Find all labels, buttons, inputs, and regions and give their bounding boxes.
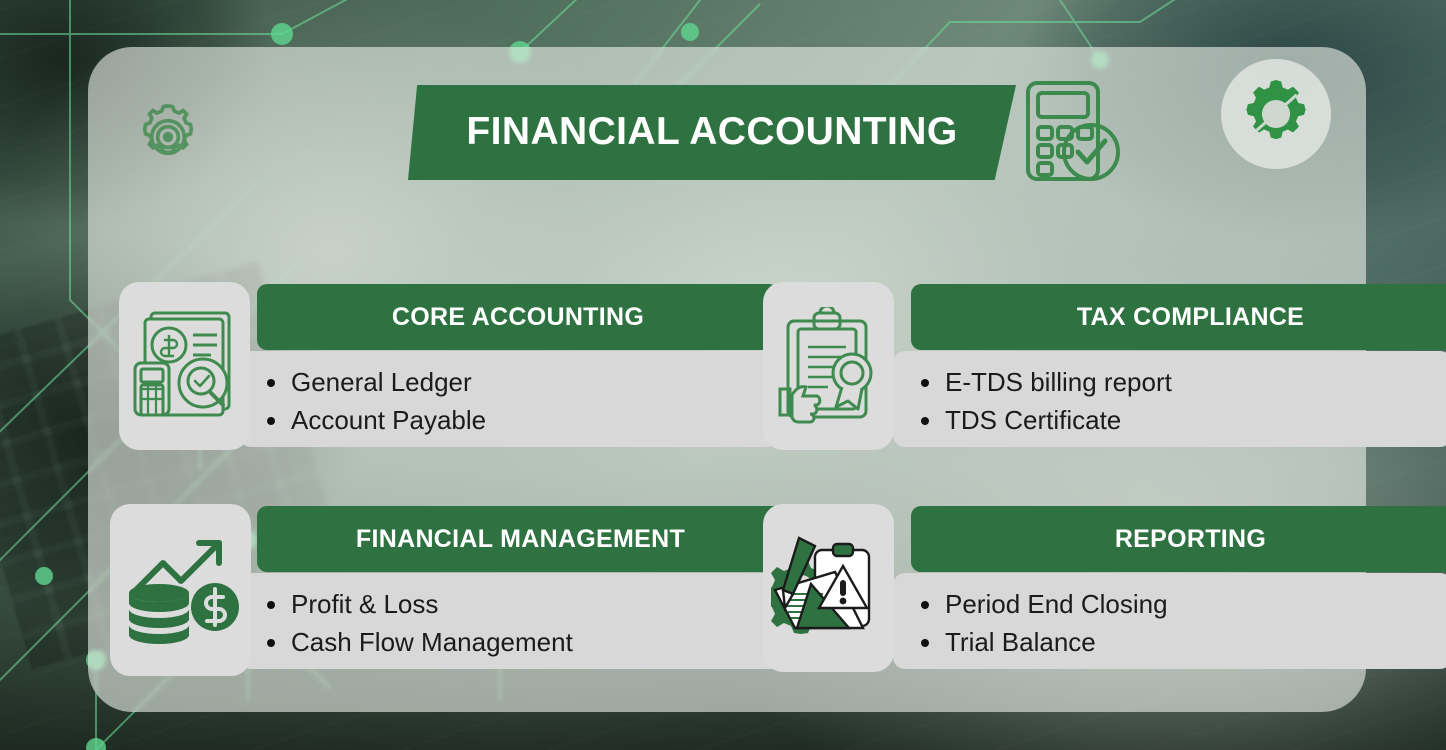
card-item-list: General Ledger Account Payable	[239, 351, 779, 439]
card-header: REPORTING	[911, 506, 1446, 572]
card-header: TAX COMPLIANCE	[911, 284, 1446, 350]
card-title: REPORTING	[1115, 525, 1266, 554]
gear-badge-icon	[1239, 77, 1313, 151]
infographic-canvas: FINANCIAL ACCOUNTING	[0, 0, 1446, 750]
list-item: Period End Closing	[945, 585, 1446, 623]
card-title: FINANCIAL MANAGEMENT	[356, 525, 685, 554]
calculator-check-icon	[1014, 79, 1126, 184]
page-title: FINANCIAL ACCOUNTING	[408, 85, 1016, 180]
card-header: FINANCIAL MANAGEMENT	[257, 506, 784, 572]
invoice-calculator-magnifier-icon	[131, 307, 239, 425]
title-banner: FINANCIAL ACCOUNTING	[408, 85, 1016, 180]
card-item-list: Profit & Loss Cash Flow Management	[239, 573, 784, 661]
gear-badge	[1221, 59, 1331, 169]
card-body: Profit & Loss Cash Flow Management	[239, 573, 784, 669]
list-item: Account Payable	[291, 401, 779, 439]
card-icon-panel	[110, 504, 251, 676]
list-item: Profit & Loss	[291, 585, 784, 623]
growth-arrow-coins-dollar-icon	[123, 531, 239, 649]
list-item: Trial Balance	[945, 623, 1446, 661]
card-body: General Ledger Account Payable	[239, 351, 779, 447]
card-icon-panel	[763, 504, 894, 672]
card-header: CORE ACCOUNTING	[257, 284, 779, 350]
card-icon-panel	[763, 282, 894, 450]
clipboard-pen-gear-warning-icon	[771, 532, 887, 644]
card-title: TAX COMPLIANCE	[1077, 303, 1304, 332]
gear-outline-icon	[131, 100, 205, 174]
card-item-list: Period End Closing Trial Balance	[893, 573, 1446, 661]
list-item: General Ledger	[291, 363, 779, 401]
card-body: Period End Closing Trial Balance	[893, 573, 1446, 669]
card-body: E-TDS billing report TDS Certificate	[893, 351, 1446, 447]
list-item: TDS Certificate	[945, 401, 1446, 439]
card-item-list: E-TDS billing report TDS Certificate	[893, 351, 1446, 439]
card-icon-panel	[119, 282, 250, 450]
card-title: CORE ACCOUNTING	[392, 303, 644, 332]
list-item: Cash Flow Management	[291, 623, 784, 661]
clipboard-certificate-thumbsup-icon	[774, 307, 884, 425]
list-item: E-TDS billing report	[945, 363, 1446, 401]
